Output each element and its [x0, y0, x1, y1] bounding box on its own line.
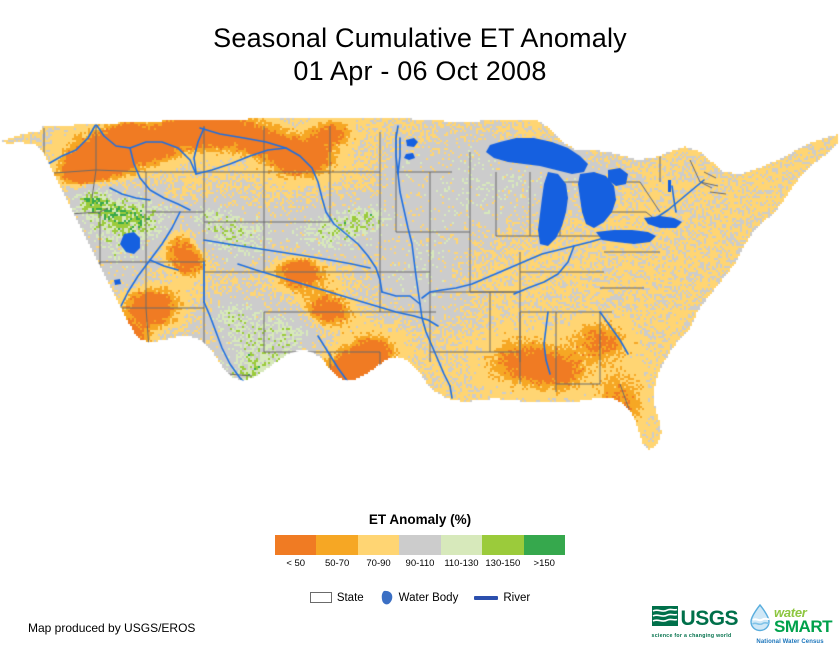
watersmart-logo-row: water SMART — [748, 604, 832, 637]
usgs-wordmark: USGS — [681, 608, 739, 629]
legend-color-ramp — [275, 535, 565, 555]
watersmart-tagline: National Water Census — [756, 639, 823, 645]
state-boundary-icon — [310, 592, 332, 603]
symbol-legend-item-state: State — [310, 592, 364, 604]
legend-class-labels: < 5050-7070-9090-110110-130130-150>150 — [275, 558, 565, 569]
river-line-icon — [474, 596, 498, 600]
water-droplet-icon — [748, 604, 772, 637]
map-figure — [0, 112, 840, 502]
page-title: Seasonal Cumulative ET Anomaly 01 Apr - … — [0, 22, 840, 88]
watersmart-logo: water SMART National Water Census — [748, 604, 832, 645]
symbol-legend-item-water-body: Water Body — [380, 590, 459, 605]
map-credit: Map produced by USGS/EROS — [28, 621, 195, 635]
legend-label-3: 90-110 — [399, 558, 440, 569]
legend-swatch-0 — [275, 535, 316, 555]
legend-label-2: 70-90 — [358, 558, 399, 569]
usgs-wave-icon — [652, 606, 678, 631]
symbol-legend: State Water Body River — [0, 590, 840, 605]
symbol-label-state: State — [337, 592, 364, 604]
legend-swatch-2 — [358, 535, 399, 555]
legend-swatch-6 — [524, 535, 565, 555]
water-body-icon — [380, 590, 394, 605]
symbol-label-water-body: Water Body — [399, 592, 459, 604]
agency-logos: USGS science for a changing world water … — [652, 604, 832, 645]
legend-label-5: 130-150 — [482, 558, 523, 569]
watersmart-wordmark: water SMART — [774, 607, 832, 635]
title-line-1: Seasonal Cumulative ET Anomaly — [0, 22, 840, 55]
watersmart-word-smart: SMART — [774, 619, 832, 635]
legend-label-4: 110-130 — [441, 558, 482, 569]
symbol-legend-item-river: River — [474, 592, 530, 604]
color-legend: ET Anomaly (%) < 5050-7070-9090-110110-1… — [0, 512, 840, 569]
legend-title: ET Anomaly (%) — [0, 512, 840, 527]
legend-ramp-wrapper: < 5050-7070-9090-110110-130130-150>150 — [275, 535, 565, 569]
legend-label-6: >150 — [524, 558, 565, 569]
legend-swatch-5 — [482, 535, 523, 555]
legend-swatch-1 — [316, 535, 357, 555]
usgs-logo-row: USGS — [652, 606, 739, 631]
usgs-logo: USGS science for a changing world — [652, 604, 739, 639]
usgs-tagline: science for a changing world — [652, 633, 732, 639]
legend-swatch-3 — [399, 535, 440, 555]
et-anomaly-raster-map — [0, 112, 840, 502]
legend-label-0: < 50 — [275, 558, 316, 569]
legend-label-1: 50-70 — [316, 558, 357, 569]
legend-swatch-4 — [441, 535, 482, 555]
title-line-2: 01 Apr - 06 Oct 2008 — [0, 55, 840, 88]
symbol-label-river: River — [503, 592, 530, 604]
